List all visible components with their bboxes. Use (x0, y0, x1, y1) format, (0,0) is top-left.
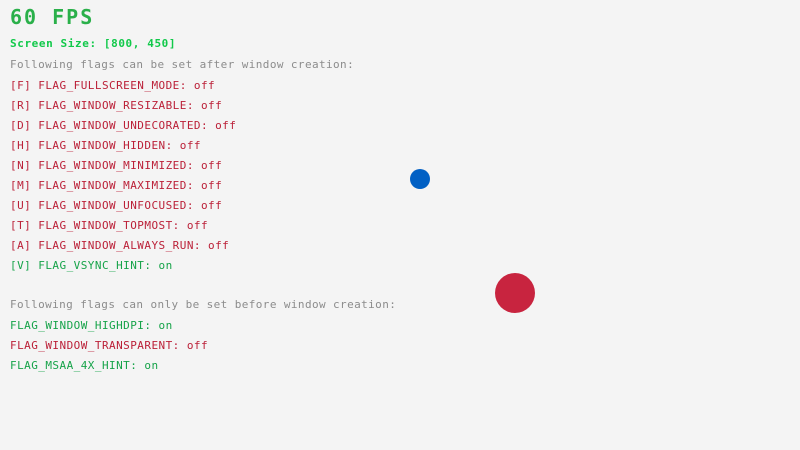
flag-row-flag-msaa-4x-hint[interactable]: FLAG_MSAA_4X_HINT: on (10, 360, 159, 371)
blue-ball (410, 169, 430, 189)
flag-row-flag-window-hidden[interactable]: [H] FLAG_WINDOW_HIDDEN: off (10, 140, 201, 151)
fps-counter: 60 FPS (10, 7, 94, 27)
screen-size-label: Screen Size: [800, 450] (10, 38, 176, 49)
flag-row-flag-window-minimized[interactable]: [N] FLAG_WINDOW_MINIMIZED: off (10, 160, 222, 171)
flag-row-flag-window-highdpi[interactable]: FLAG_WINDOW_HIGHDPI: on (10, 320, 173, 331)
flag-row-flag-window-resizable[interactable]: [R] FLAG_WINDOW_RESIZABLE: off (10, 100, 222, 111)
flag-row-flag-window-unfocused[interactable]: [U] FLAG_WINDOW_UNFOCUSED: off (10, 200, 222, 211)
heading-flags-before-creation: Following flags can only be set before w… (10, 299, 396, 310)
flag-row-flag-window-always-run[interactable]: [A] FLAG_WINDOW_ALWAYS_RUN: off (10, 240, 229, 251)
flag-row-flag-vsync-hint[interactable]: [V] FLAG_VSYNC_HINT: on (10, 260, 173, 271)
red-ball (495, 273, 535, 313)
flag-row-flag-fullscreen-mode[interactable]: [F] FLAG_FULLSCREEN_MODE: off (10, 80, 215, 91)
raylib-window-canvas: 60 FPS Screen Size: [800, 450] Following… (0, 0, 800, 450)
flag-row-flag-window-maximized[interactable]: [M] FLAG_WINDOW_MAXIMIZED: off (10, 180, 222, 191)
flag-row-flag-window-transparent[interactable]: FLAG_WINDOW_TRANSPARENT: off (10, 340, 208, 351)
flag-row-flag-window-undecorated[interactable]: [D] FLAG_WINDOW_UNDECORATED: off (10, 120, 236, 131)
heading-flags-after-creation: Following flags can be set after window … (10, 59, 354, 70)
flag-row-flag-window-topmost[interactable]: [T] FLAG_WINDOW_TOPMOST: off (10, 220, 208, 231)
